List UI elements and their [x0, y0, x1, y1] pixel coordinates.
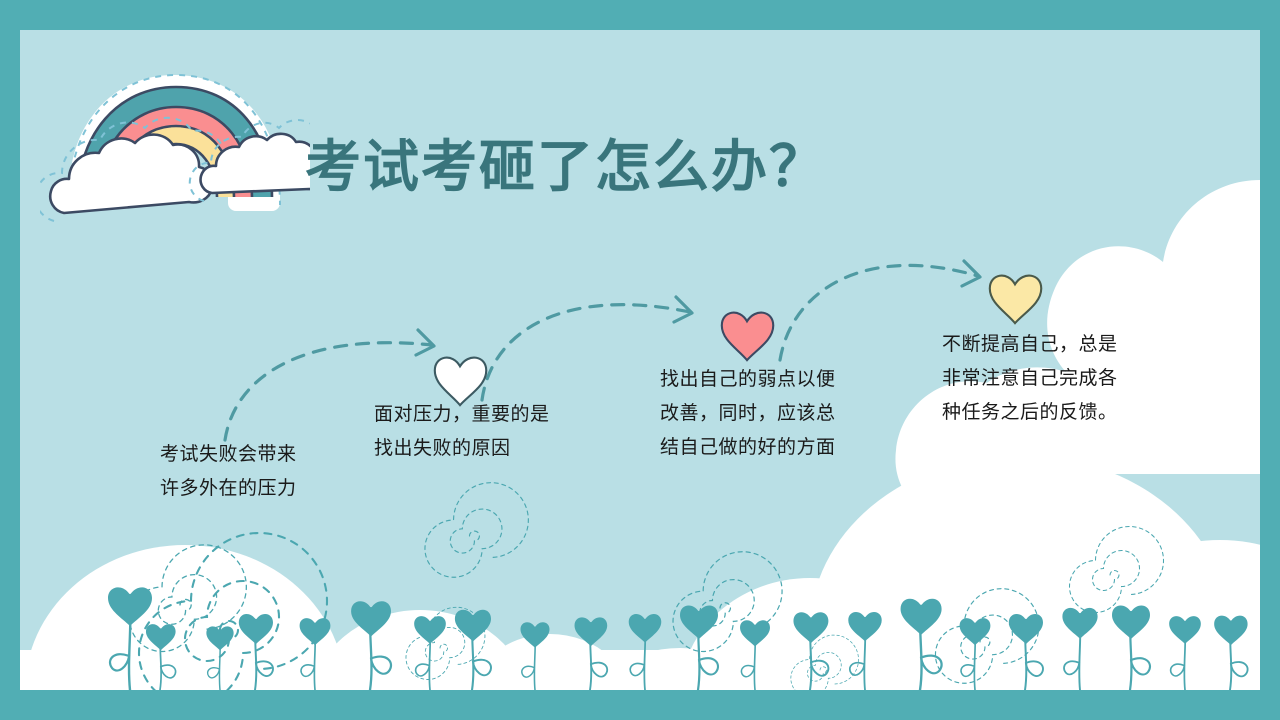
dashed-arrow-2	[482, 305, 690, 400]
arrowhead-3	[962, 261, 980, 286]
arrowhead-1	[416, 330, 434, 355]
slide-inner-panel: 考试考砸了怎么办？ 考试失败会带来 许多外在的压力 面对压力，重要的是 找出失败…	[20, 30, 1260, 690]
step-text-4: 不断提高自己，总是 非常注意自己完成各 种任务之后的反馈。	[942, 328, 1167, 430]
step-text-1: 考试失败会带来 许多外在的压力	[160, 438, 360, 506]
step-text-3: 找出自己的弱点以便 改善，同时，应该总 结自己做的好的方面	[660, 363, 880, 465]
pink-heart-icon	[722, 313, 773, 361]
slide-canvas: 考试考砸了怎么办？ 考试失败会带来 许多外在的压力 面对压力，重要的是 找出失败…	[0, 0, 1280, 720]
step-text-2: 面对压力，重要的是 找出失败的原因	[374, 398, 594, 466]
page-title: 考试考砸了怎么办？	[305, 122, 827, 203]
arrowhead-2	[674, 297, 692, 322]
rainbow-cloud-icon	[40, 45, 310, 225]
yellow-heart-icon	[990, 276, 1041, 324]
